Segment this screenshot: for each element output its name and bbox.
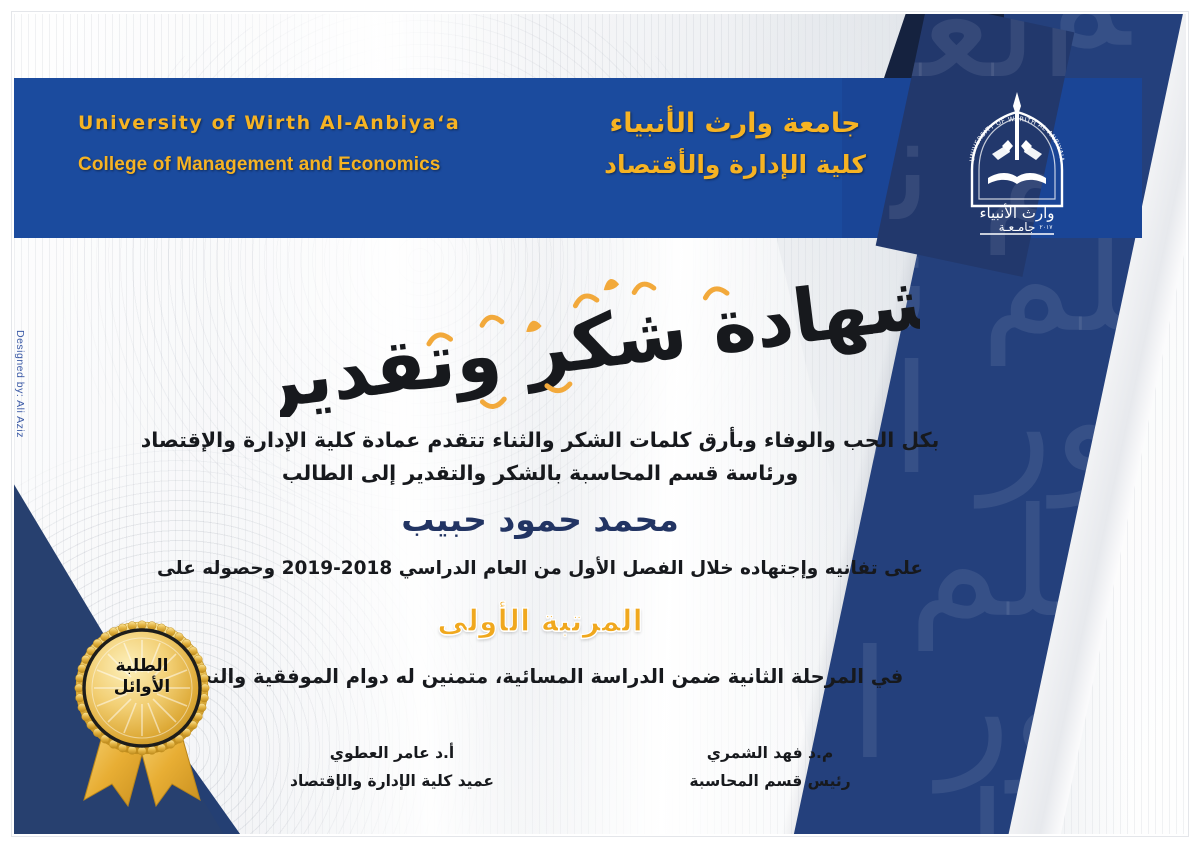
body-paragraph-3: في المرحلة الثانية ضمن الدراسة المسائية،… xyxy=(130,662,950,691)
header-arabic-block: جامعة وارث الأنبياء كلية الإدارة والأقتص… xyxy=(520,108,950,179)
university-name-ar: جامعة وارث الأنبياء xyxy=(520,108,950,139)
certificate-page: العلم نور العلم نور العلم نور العلم نور … xyxy=(0,0,1200,848)
signature-name-dean: أ.د عامر العطوي xyxy=(232,744,552,762)
svg-text:شهادة شكر وتقدير: شهادة شكر وتقدير xyxy=(280,267,920,417)
certificate-title-calligraphy: شهادة شكر وتقدير xyxy=(0,272,1200,412)
designer-credit: Designed by: Ali Aziz xyxy=(14,330,26,438)
body-paragraph-2: على تفانيه وإجتهاده خلال الفصل الأول من … xyxy=(130,558,950,579)
college-name-en: College of Management and Economics xyxy=(78,154,460,176)
signature-block-head: م.د فهد الشمري رئيس قسم المحاسبة xyxy=(620,744,920,790)
svg-text:٢٠١٧: ٢٠١٧ xyxy=(1040,224,1054,231)
header-english-block: University of Wirth Al-Anbiya‘a College … xyxy=(78,112,460,176)
signature-role-dean: عميد كلية الإدارة والإقتصاد xyxy=(232,772,552,790)
body-paragraph-1: بكل الحب والوفاء وبأرق كلمات الشكر والثن… xyxy=(130,424,950,490)
signature-block-dean: أ.د عامر العطوي عميد كلية الإدارة والإقت… xyxy=(232,744,552,790)
signature-role-head: رئيس قسم المحاسبة xyxy=(620,772,920,790)
student-name: محمد حمود حبيب xyxy=(130,500,950,539)
svg-text:جامـعـة: جامـعـة xyxy=(999,220,1036,234)
award-badge-icon: الطلبة الأوائل xyxy=(62,614,222,810)
university-name-en: University of Wirth Al-Anbiya‘a xyxy=(78,112,460,134)
signature-name-head: م.د فهد الشمري xyxy=(620,744,920,762)
college-name-ar: كلية الإدارة والأقتصاد xyxy=(520,150,950,179)
university-seal-icon: UNIVERSITY OF WARITH AL-ANBIYA'A وارث ال… xyxy=(958,86,1076,236)
rank-awarded: المرتبة الأولى xyxy=(130,604,950,639)
